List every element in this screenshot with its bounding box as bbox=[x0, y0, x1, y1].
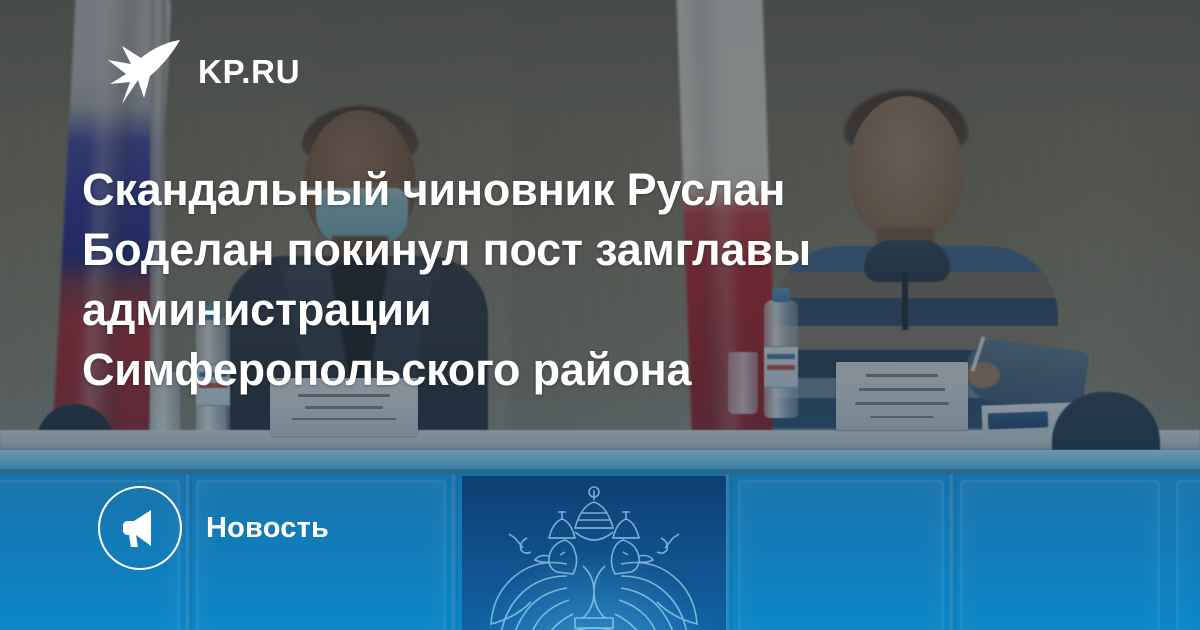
rubric-icon-circle bbox=[98, 486, 182, 570]
headline-line-3: администрации bbox=[82, 280, 1042, 340]
page-title: Скандальный чиновник Руслан Боделан поки… bbox=[82, 160, 1042, 400]
headline-line-2: Боделан покинул пост замглавы bbox=[82, 220, 1042, 280]
rubric-badge[interactable]: Новость bbox=[98, 486, 329, 570]
coat-of-arms-recess bbox=[462, 476, 726, 630]
headline-line-4: Симферопольского района bbox=[82, 340, 1042, 400]
podium-panel bbox=[738, 480, 944, 630]
swallow-bird-icon bbox=[104, 36, 182, 106]
kp-news-share-card: KP.RU Скандальный чиновник Руслан Бодела… bbox=[0, 0, 1200, 630]
logo-wordmark: KP.RU bbox=[198, 55, 300, 88]
podium-panel bbox=[1176, 480, 1200, 630]
russian-coat-of-arms-icon bbox=[479, 482, 709, 630]
site-logo[interactable]: KP.RU bbox=[104, 36, 300, 106]
rubric-label: Новость bbox=[206, 512, 329, 545]
podium-seam bbox=[452, 474, 458, 630]
podium-seam bbox=[950, 474, 956, 630]
headline-line-1: Скандальный чиновник Руслан bbox=[82, 160, 1042, 220]
podium-ledge bbox=[0, 450, 1200, 474]
megaphone-icon bbox=[117, 505, 163, 551]
podium-seam bbox=[726, 474, 732, 630]
podium-panel bbox=[960, 480, 1160, 630]
